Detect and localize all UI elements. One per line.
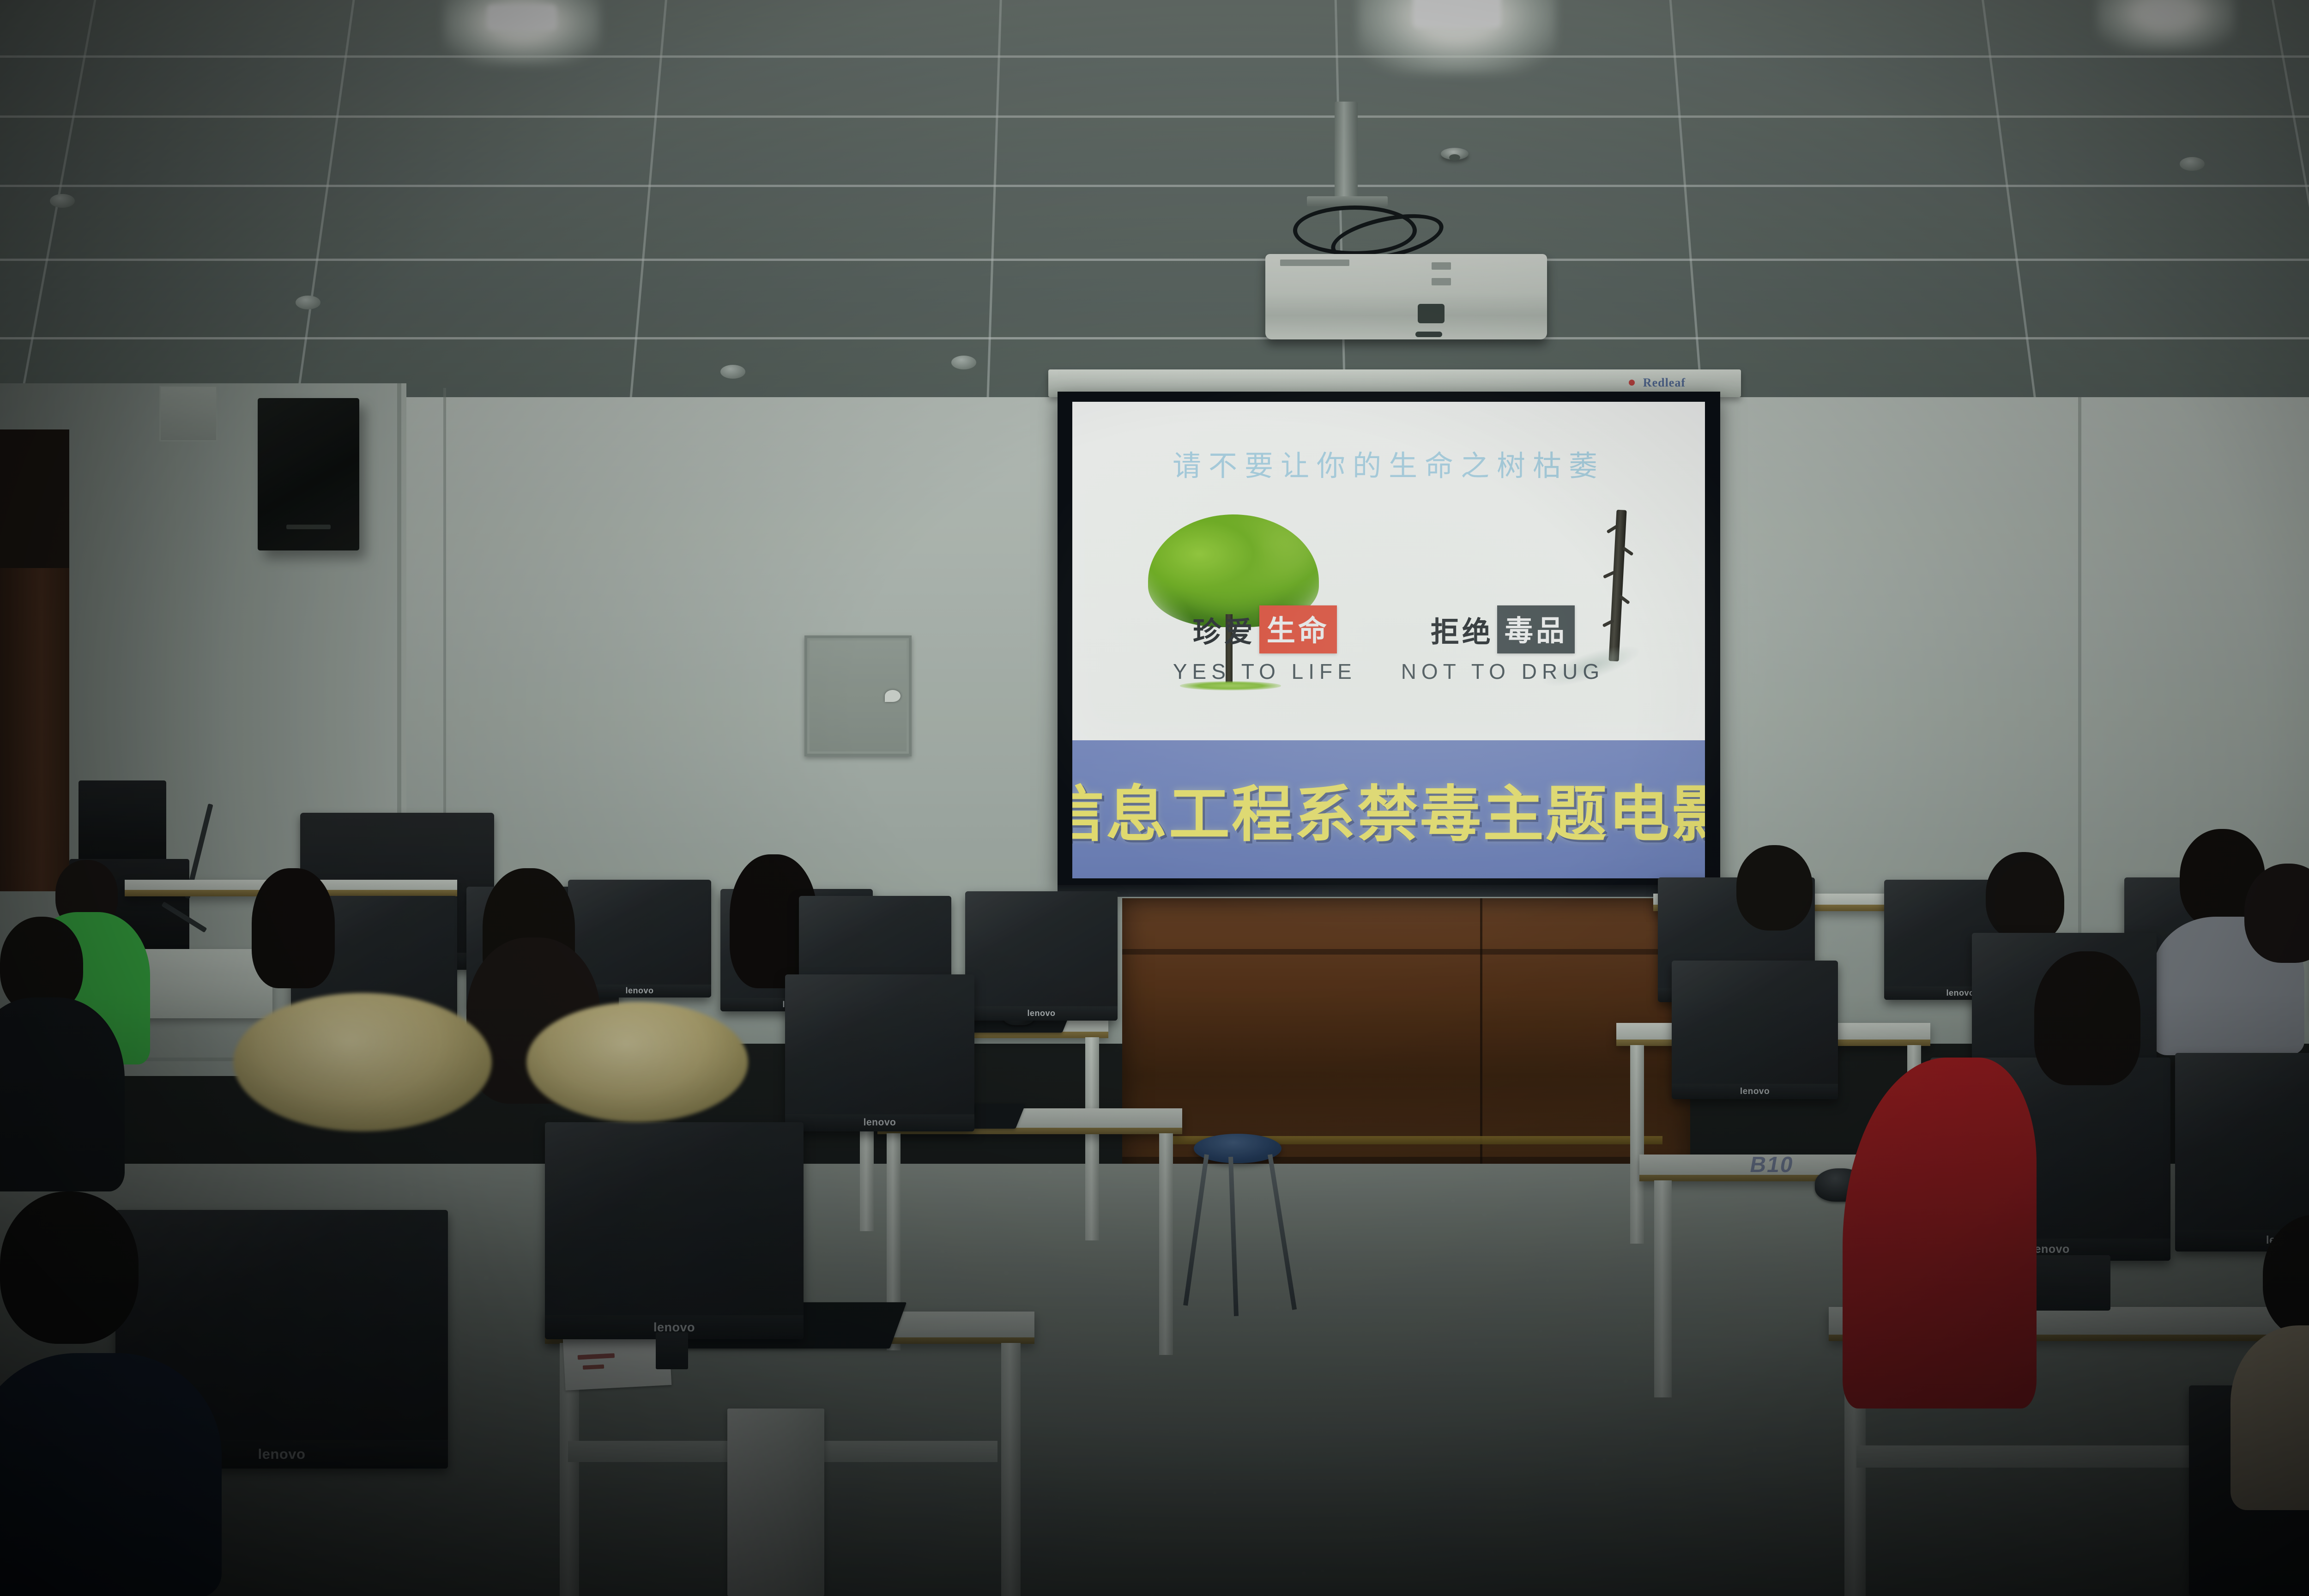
- wall-seam: [2078, 397, 2081, 951]
- floor-speck: [390, 1529, 394, 1533]
- floor-speck: [1232, 1429, 1236, 1433]
- slogan-row: 珍爱 生命 YES TO LIFE 拒绝 毒品 NOT TO D: [1072, 605, 1705, 684]
- slide-title-text: 电子信息工程系禁毒主题电影展播: [1072, 765, 1705, 853]
- floor-speck: [424, 1545, 427, 1548]
- monitor-brand-logo: lenovo: [1027, 1009, 1055, 1018]
- floor-speck: [445, 1581, 449, 1585]
- floor-speck: [1146, 1383, 1148, 1385]
- floor-speck: [825, 1250, 828, 1252]
- floor-speck: [1386, 1570, 1390, 1574]
- slogan-right-english: NOT TO DRUG: [1401, 659, 1604, 684]
- floor-speck: [1461, 1284, 1463, 1286]
- student-head: [1995, 861, 2064, 942]
- floor-speck: [974, 1378, 977, 1381]
- monitor-brand-logo: lenovo: [1740, 1087, 1770, 1097]
- ceiling-grid-line: [0, 185, 2309, 187]
- floor-speck: [1338, 1232, 1342, 1236]
- floor-speck: [1309, 1267, 1312, 1271]
- projected-slide: 请不要让你的生命之树枯萎: [1072, 402, 1705, 878]
- floor-speck: [1137, 1533, 1141, 1537]
- floor-speck: [454, 1481, 459, 1486]
- floor-speck: [1218, 1346, 1221, 1349]
- ceiling: [0, 0, 2309, 416]
- slogan-cn-left: 珍爱 生命: [1193, 605, 1337, 653]
- floor-speck: [1236, 1382, 1239, 1385]
- floor-speck: [409, 1577, 411, 1579]
- floor-speck: [1915, 1493, 1916, 1495]
- sprinkler-head-icon: [1441, 148, 1469, 160]
- floor-speck: [1213, 1491, 1216, 1494]
- floor-speck: [1437, 1412, 1439, 1414]
- floor-speck: [1728, 1233, 1731, 1236]
- floor-speck: [601, 1534, 606, 1538]
- floor-speck: [1004, 1271, 1008, 1275]
- projector-port: [1432, 262, 1451, 270]
- floor-speck: [1287, 1165, 1292, 1169]
- wall-vent-icon: [159, 386, 218, 441]
- floor-speck: [1465, 1166, 1469, 1170]
- ceiling-grid-line: [0, 337, 2309, 339]
- floor-speck: [1753, 1337, 1755, 1339]
- floor-speck: [1490, 1278, 1493, 1282]
- floor-speck: [1806, 1321, 1807, 1322]
- floor-speck: [1521, 1352, 1523, 1354]
- smoke-detector-icon: [951, 356, 976, 369]
- floor-speck: [1944, 1435, 1947, 1438]
- floor-speck: [1674, 1524, 1678, 1527]
- floor-speck: [1284, 1340, 1286, 1342]
- floor-speck: [1731, 1289, 1733, 1291]
- floor-speck: [259, 1477, 260, 1479]
- floor-speck: [1273, 1429, 1275, 1432]
- floor-speck: [1151, 1593, 1154, 1596]
- student-monitor: lenovo: [545, 1122, 804, 1339]
- desk-leg: [1159, 1133, 1173, 1355]
- floor-speck: [987, 1378, 992, 1382]
- floor-speck: [1459, 1301, 1463, 1305]
- student-dark-coat: [0, 997, 125, 1191]
- floor-speck: [1633, 1572, 1636, 1574]
- floor-speck: [1497, 1205, 1501, 1209]
- redleaf-logo-dot-icon: [1629, 380, 1635, 386]
- fur-hood-collar: [233, 993, 492, 1131]
- student-head: [0, 1191, 139, 1344]
- student-jacket: [0, 1353, 222, 1596]
- floor-speck: [1842, 1467, 1844, 1468]
- floor-speck: [494, 1439, 496, 1442]
- floor-speck: [2171, 1436, 2174, 1439]
- floor-speck: [1520, 1382, 1523, 1384]
- smoke-detector-icon: [720, 365, 745, 379]
- floor-speck: [486, 1353, 488, 1354]
- floor-speck: [2163, 1295, 2166, 1299]
- floor-speck: [1359, 1501, 1360, 1503]
- floor-speck: [239, 1177, 241, 1179]
- floor-speck: [2163, 1498, 2167, 1502]
- floor-speck: [1420, 1223, 1422, 1226]
- floor-speck: [941, 1190, 942, 1191]
- floor-speck: [997, 1190, 1000, 1193]
- floor-speck: [2104, 1532, 2108, 1536]
- floor-speck: [2193, 1378, 2196, 1382]
- floor-speck: [468, 1167, 471, 1170]
- slogan-cn-right: 拒绝 毒品: [1431, 605, 1575, 653]
- floor-speck: [2053, 1515, 2055, 1517]
- floor-speck: [1346, 1513, 1350, 1517]
- monitor-stand: [656, 1332, 688, 1369]
- floor-speck: [533, 1254, 536, 1257]
- floor-speck: [1602, 1458, 1607, 1463]
- floor-speck: [1557, 1421, 1559, 1423]
- floor-speck: [1023, 1247, 1027, 1250]
- floor-speck: [1603, 1230, 1606, 1232]
- student-hair: [252, 868, 335, 988]
- floor-speck: [1753, 1448, 1757, 1452]
- ceiling-grid-line: [0, 115, 2309, 118]
- student-monitor: lenovo: [965, 891, 1118, 1021]
- floor-speck: [484, 1276, 489, 1281]
- floor-speck: [1769, 1300, 1771, 1302]
- floor-speck: [1637, 1324, 1641, 1328]
- floor-speck: [1342, 1179, 1346, 1182]
- floor-speck: [2000, 1540, 2001, 1542]
- slide-upper-area: 请不要让你的生命之树枯萎: [1072, 402, 1705, 740]
- floor-speck: [1538, 1457, 1542, 1461]
- floor-speck: [973, 1506, 977, 1510]
- floor-speck: [449, 1418, 452, 1421]
- floor-speck: [1563, 1586, 1567, 1590]
- floor-speck: [1777, 1524, 1780, 1528]
- floor-speck: [1384, 1490, 1387, 1493]
- floor-speck: [1271, 1232, 1275, 1236]
- ceiling-grid-line: [986, 0, 1002, 416]
- student-monitor: lenovo: [2175, 1053, 2309, 1251]
- floor-speck: [2132, 1547, 2136, 1551]
- paper-red-mark: [583, 1364, 604, 1369]
- student-monitor: lenovo: [785, 974, 974, 1131]
- floor-speck: [1020, 1197, 1022, 1199]
- ceiling-projector: [1265, 254, 1547, 339]
- floor-speck: [534, 1432, 536, 1434]
- floor-speck: [444, 1515, 448, 1518]
- floor-speck: [1474, 1342, 1478, 1345]
- ceiling-grid-line: [628, 0, 667, 416]
- floor-speck: [2082, 1577, 2087, 1582]
- floor-speck: [1451, 1199, 1455, 1203]
- floor-speck: [1767, 1577, 1771, 1580]
- classroom-photo: Redleaf 请不要让你的生命之树枯萎: [0, 0, 2309, 1596]
- floor-speck: [967, 1420, 971, 1423]
- door-upper-panel: [0, 429, 69, 568]
- floor-speck: [1616, 1269, 1618, 1271]
- projector-mount-plate: [1307, 196, 1388, 206]
- floor-speck: [706, 1553, 709, 1556]
- floor-speck: [1427, 1265, 1429, 1266]
- floor-speck: [1972, 1576, 1974, 1578]
- branch-thorn: [1619, 595, 1630, 605]
- monitor-bezel: lenovo: [965, 1006, 1118, 1021]
- floor-speck: [1595, 1482, 1599, 1487]
- floor-speck: [774, 1372, 775, 1373]
- floor-speck: [1410, 1546, 1414, 1550]
- floor-speck: [542, 1436, 544, 1438]
- floor-speck: [1798, 1373, 1800, 1376]
- floor-speck: [869, 1499, 871, 1501]
- floor-speck: [1599, 1588, 1601, 1589]
- floor-speck: [292, 1192, 295, 1195]
- floor-speck: [1370, 1199, 1372, 1201]
- floor-speck: [1590, 1244, 1593, 1246]
- slogan-left-english: YES TO LIFE: [1173, 659, 1357, 684]
- floor-speck: [213, 1189, 215, 1191]
- floor-speck: [1269, 1207, 1270, 1209]
- floor-speck: [663, 1508, 666, 1511]
- floor-speck: [2023, 1540, 2028, 1544]
- floor-speck: [492, 1442, 496, 1446]
- floor-speck: [1032, 1399, 1036, 1403]
- wall-mounted-speaker: [258, 398, 359, 550]
- floor-speck: [2026, 1420, 2028, 1422]
- monitor-bezel: lenovo: [785, 1114, 974, 1131]
- desk-leg: [1001, 1343, 1021, 1596]
- ceiling-grid-line: [0, 259, 2309, 261]
- floor-speck: [1282, 1460, 1285, 1463]
- floor-speck: [1643, 1551, 1647, 1555]
- ceiling-grid-line: [17, 0, 97, 416]
- monitor-brand-logo: lenovo: [258, 1446, 306, 1463]
- floor-speck: [2177, 1360, 2180, 1362]
- floor-speck: [1321, 1569, 1324, 1572]
- floor-speck: [1118, 1508, 1122, 1512]
- floor-speck: [134, 1181, 137, 1184]
- slide-artwork: 珍爱 生命 YES TO LIFE 拒绝 毒品 NOT TO D: [1072, 510, 1705, 726]
- floor-speck: [941, 1249, 945, 1253]
- floor-speck: [1628, 1357, 1632, 1361]
- floor-speck: [1302, 1572, 1306, 1576]
- floor-speck: [496, 1419, 498, 1421]
- floor-speck: [1219, 1440, 1223, 1444]
- floor-speck: [1828, 1392, 1830, 1394]
- floor-speck: [1074, 1413, 1076, 1415]
- floor-speck: [858, 1368, 859, 1370]
- floor-speck: [1584, 1199, 1587, 1201]
- wood-rail: [1122, 949, 1690, 955]
- smoke-detector-icon: [2180, 157, 2205, 171]
- floor-speck: [1675, 1239, 1680, 1244]
- floor-speck: [1898, 1504, 1901, 1507]
- floor-speck: [1468, 1261, 1469, 1262]
- branch-thorn: [1603, 571, 1615, 579]
- ceiling-grid-line: [294, 0, 355, 416]
- slogan-right-plain: 拒绝: [1431, 609, 1493, 650]
- slide-title-banner: 电子信息工程系禁毒主题电影展播: [1072, 740, 1705, 878]
- floor-speck: [1806, 1211, 1808, 1214]
- floor-speck: [1982, 1513, 1984, 1516]
- monitor-brand-logo: lenovo: [2031, 1243, 2070, 1256]
- floor-speck: [1782, 1444, 1784, 1447]
- desktop-pc-tower[interactable]: [727, 1409, 824, 1596]
- floor-speck: [1359, 1354, 1362, 1357]
- floor-speck: [1569, 1177, 1572, 1180]
- projection-screen-frame: 请不要让你的生命之树枯萎: [1058, 392, 1720, 887]
- floor-speck: [954, 1265, 958, 1270]
- floor-speck: [587, 1473, 590, 1475]
- floor-speck: [1463, 1527, 1466, 1530]
- floor-speck: [530, 1282, 534, 1285]
- floor-speck: [1341, 1165, 1342, 1166]
- student-monitor: lenovo: [1672, 961, 1838, 1099]
- student-hair: [2034, 951, 2140, 1085]
- floor-speck: [531, 1320, 532, 1322]
- slogan-left-plain: 珍爱: [1193, 609, 1256, 650]
- floor-speck: [1061, 1541, 1064, 1544]
- floor-speck: [974, 1230, 976, 1232]
- floor-speck: [950, 1470, 955, 1475]
- floor-speck: [1648, 1442, 1652, 1446]
- floor-speck: [2099, 1579, 2101, 1581]
- floor-speck: [881, 1413, 883, 1415]
- floor-speck: [1461, 1542, 1462, 1543]
- floor-speck: [541, 1362, 542, 1364]
- floor-speck: [683, 1472, 687, 1475]
- floor-speck: [490, 1333, 491, 1335]
- monitor-brand-logo: lenovo: [1946, 988, 1974, 998]
- floor-speck: [1763, 1549, 1766, 1552]
- desk-leg: [1085, 1037, 1099, 1240]
- floor-speck: [259, 1200, 261, 1202]
- floor-speck: [1249, 1185, 1251, 1186]
- slogan-right-boxed: 毒品: [1497, 605, 1575, 653]
- floor-speck: [2174, 1508, 2177, 1511]
- floor-speck: [1423, 1168, 1426, 1172]
- slide-headline: 请不要让你的生命之树枯萎: [1072, 442, 1705, 484]
- ceiling-grid-line: [1982, 0, 2038, 416]
- floor-speck: [1618, 1365, 1620, 1367]
- floor-speck: [1916, 1439, 1920, 1443]
- panel-latch-handle[interactable]: [885, 690, 901, 702]
- floor-speck: [1946, 1493, 1951, 1497]
- projector-connector: [1418, 304, 1445, 323]
- ceiling-light-core: [487, 5, 556, 30]
- floor-speck: [410, 1192, 414, 1196]
- desk-number-label: B10: [1748, 1152, 1796, 1178]
- floor-speck: [843, 1423, 847, 1427]
- floor-speck: [1028, 1196, 1031, 1200]
- floor-speck: [868, 1540, 870, 1542]
- floor-speck: [475, 1469, 478, 1472]
- monitor-bezel: lenovo: [1672, 1084, 1838, 1099]
- floor-speck: [1740, 1378, 1742, 1381]
- teacher-podium[interactable]: [134, 949, 272, 1018]
- floor-speck: [1420, 1441, 1423, 1444]
- floor-speck: [2117, 1529, 2121, 1533]
- floor-speck: [1627, 1409, 1632, 1413]
- floor-speck: [1491, 1552, 1494, 1554]
- floor-speck: [1504, 1186, 1507, 1189]
- floor-speck: [924, 1396, 927, 1399]
- floor-speck: [5, 1334, 8, 1337]
- ceiling-grid-line: [2272, 0, 2309, 416]
- floor-speck: [1351, 1421, 1352, 1422]
- smoke-detector-icon: [296, 296, 320, 309]
- floor-speck: [465, 1417, 470, 1421]
- floor-speck: [922, 1509, 925, 1511]
- utility-panel-box[interactable]: [804, 635, 912, 756]
- floor-speck: [1469, 1315, 1471, 1318]
- floor-speck: [1720, 1236, 1723, 1239]
- floor-speck: [1546, 1279, 1549, 1282]
- floor-speck: [2062, 1593, 2066, 1596]
- floor-speck: [2088, 1561, 2091, 1564]
- monitor-brand-logo: lenovo: [625, 986, 653, 996]
- floor-speck: [516, 1181, 518, 1182]
- floor-speck: [1728, 1451, 1731, 1455]
- floor-speck: [524, 1219, 526, 1221]
- screen-weight-bar: [1058, 885, 1720, 897]
- podium-speaker: [115, 780, 166, 868]
- floor-speck: [240, 1183, 242, 1186]
- floor-speck: [1964, 1558, 1968, 1562]
- floor-speck: [1275, 1306, 1279, 1310]
- floor-speck: [1647, 1550, 1649, 1552]
- floor-speck: [900, 1562, 903, 1565]
- floor-speck: [1172, 1461, 1175, 1465]
- slogan-yes-to-life: 珍爱 生命 YES TO LIFE: [1173, 605, 1357, 684]
- floor-speck: [980, 1467, 982, 1469]
- floor-speck: [1934, 1479, 1937, 1481]
- student-head: [1736, 845, 1813, 931]
- floor-speck: [378, 1552, 381, 1555]
- floor-speck: [1060, 1411, 1062, 1412]
- floor-speck: [1694, 1505, 1699, 1510]
- floor-speck: [1569, 1204, 1572, 1206]
- floor-speck: [435, 1557, 440, 1561]
- floor-speck: [2061, 1560, 2064, 1563]
- floor-speck: [1312, 1418, 1316, 1423]
- floor-speck: [1993, 1588, 1995, 1590]
- floor-speck: [1300, 1460, 1303, 1463]
- floor-speck: [1338, 1316, 1342, 1320]
- floor-speck: [1764, 1403, 1768, 1408]
- floor-speck: [695, 1594, 700, 1596]
- floor-speck: [276, 1585, 278, 1587]
- screen-brand-label: Redleaf: [1643, 376, 1686, 390]
- floor-speck: [1476, 1487, 1478, 1489]
- floor-speck: [1717, 1282, 1719, 1284]
- floor-speck: [226, 1549, 230, 1553]
- floor-speck: [1731, 1519, 1733, 1521]
- floor-speck: [1141, 1283, 1146, 1288]
- floor-speck: [1221, 1289, 1225, 1293]
- floor-speck: [413, 1490, 415, 1492]
- desk-leg: [1630, 1045, 1644, 1244]
- ceiling-light-core: [1413, 0, 1501, 28]
- floor-speck: [1066, 1469, 1069, 1472]
- floor-speck: [1069, 1233, 1073, 1237]
- projector-mount-pole: [1335, 102, 1358, 199]
- floor-speck: [494, 1411, 496, 1414]
- floor-speck: [1596, 1477, 1599, 1481]
- floor-speck: [722, 1368, 725, 1371]
- floor-speck: [1690, 1263, 1694, 1267]
- slogan-not-to-drug: 拒绝 毒品 NOT TO DRUG: [1401, 605, 1604, 684]
- floor-speck: [1724, 1375, 1727, 1378]
- floor-speck: [2173, 1535, 2177, 1538]
- floor-speck: [527, 1437, 532, 1442]
- floor-speck: [1237, 1288, 1240, 1291]
- monitor-brand-logo: lenovo: [864, 1117, 896, 1128]
- ceiling-light-fixture: [2097, 0, 2235, 51]
